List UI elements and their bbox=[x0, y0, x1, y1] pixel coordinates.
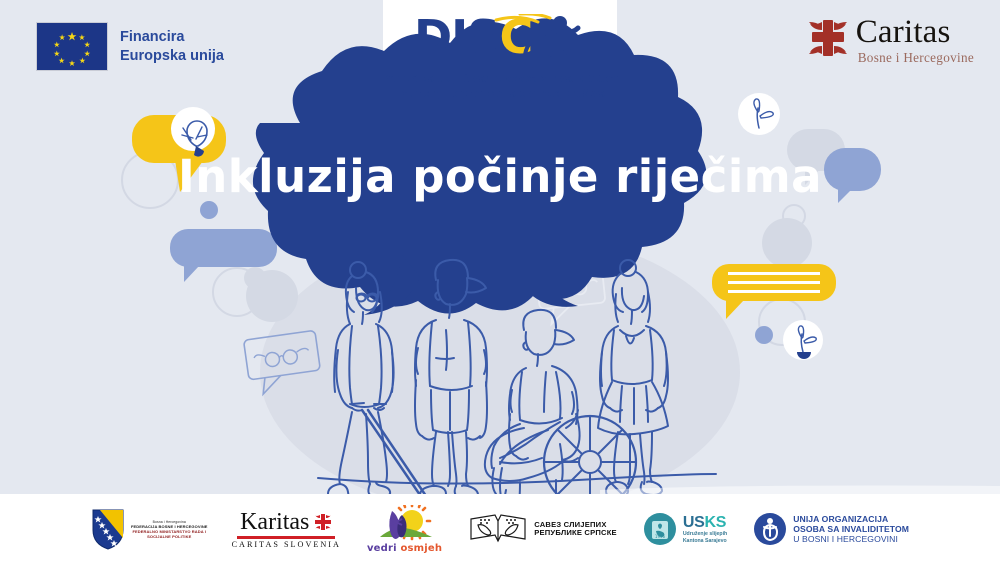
svg-text:1946: 1946 bbox=[655, 534, 666, 539]
savez-text: САВЕЗ СЛИЈЕПИХ РЕПУБЛИКЕ СРПСКЕ bbox=[534, 521, 617, 538]
caritas-name: Caritas bbox=[856, 16, 974, 49]
bih-line3: FEDERALNO MINISTARSTVO RADA I bbox=[131, 529, 208, 534]
unija-line3: U BOSNI I HERCEGOVINI bbox=[793, 534, 909, 544]
decor-circle-filled bbox=[244, 267, 266, 289]
partner-logos-footer: Bosna i Hercegovina FEDERACIJA BOSNE I H… bbox=[0, 495, 1000, 563]
usks-abbr: USKS bbox=[683, 514, 727, 532]
karitas-name: Karitas bbox=[240, 510, 309, 534]
savez-line2: РЕПУБЛИКЕ СРПСКЕ bbox=[534, 529, 617, 538]
usks-candle-hand-icon: 1946 bbox=[643, 512, 677, 546]
disc-logo: DISC bbox=[400, 14, 600, 68]
unija-person-wheelchair-icon bbox=[753, 512, 787, 546]
karitas-top-row: Karitas bbox=[240, 510, 332, 534]
disc-subtitle-line1: Projekt za uključivanje osoba s invalidi… bbox=[381, 72, 619, 87]
karitas-cross-icon bbox=[314, 513, 332, 531]
decor-circle-filled bbox=[762, 218, 812, 268]
sprout-icon bbox=[783, 320, 823, 360]
disc-subtitle: Projekt za uključivanje osoba s invalidi… bbox=[381, 72, 619, 102]
braille-book-icon bbox=[468, 511, 528, 547]
sun-and-people-icon bbox=[376, 505, 434, 545]
usks-logo: 1946 USKS Udruženje slijepih Kantona Sar… bbox=[643, 512, 727, 546]
karitas-red-rule bbox=[237, 536, 335, 539]
vedri-word1: vedri bbox=[367, 543, 397, 554]
unija-text: UNIJA ORGANIZACIJA OSOBA SA INVALIDITETO… bbox=[793, 514, 909, 545]
caritas-text: Caritas Bosne i Hercegovine bbox=[856, 16, 974, 64]
unija-line2: OSOBA SA INVALIDITETOM bbox=[793, 524, 909, 534]
bih-ministry-text: Bosna i Hercegovina FEDERACIJA BOSNE I H… bbox=[131, 520, 208, 539]
usks-abbr-ks: KS bbox=[704, 514, 726, 531]
poster-canvas: Financira Europska unija DISC bbox=[0, 0, 1000, 563]
bih-ministry-logo: Bosna i Hercegovina FEDERACIJA BOSNE I H… bbox=[91, 508, 208, 550]
karitas-subtitle: CARITAS SLOVENIA bbox=[232, 540, 341, 549]
usks-text: USKS Udruženje slijepih Kantona Sarajevo bbox=[683, 514, 727, 545]
bih-line4: SOCIJALNE POLITIKE bbox=[131, 534, 208, 539]
unija-organizacija-logo: UNIJA ORGANIZACIJA OSOBA SA INVALIDITETO… bbox=[753, 512, 909, 546]
caritas-subtitle: Bosne i Hercegovine bbox=[858, 51, 974, 64]
unija-line1: UNIJA ORGANIZACIJA bbox=[793, 514, 909, 524]
vedri-word2: osmjeh bbox=[400, 543, 442, 554]
bih-coat-of-arms-icon bbox=[91, 508, 125, 550]
vedri-osmjeh-logo: vedri osmjeh bbox=[367, 505, 442, 554]
caritas-logo-block: Caritas Bosne i Hercegovine bbox=[806, 16, 974, 64]
usks-abbr-us: US bbox=[683, 514, 705, 531]
savez-slijepih-rs-logo: САВЕЗ СЛИЈЕПИХ РЕПУБЛИКЕ СРПСКЕ bbox=[468, 511, 617, 547]
page-title: Inkluzija počinje riječima bbox=[0, 150, 1000, 203]
karitas-slovenia-logo: Karitas CARITAS SLOVENIA bbox=[232, 510, 341, 549]
caritas-flame-cross-icon bbox=[806, 16, 850, 60]
decor-dot bbox=[755, 326, 773, 344]
bih-line2: FEDERACIJA BOSNE I HERCEGOVINE bbox=[131, 524, 208, 529]
usks-sub2: Kantona Sarajevo bbox=[683, 538, 727, 545]
disc-subtitle-line2: i suradnju organizacija civilnog društva bbox=[381, 87, 619, 102]
vedri-osmjeh-wordmark: vedri osmjeh bbox=[367, 543, 442, 554]
disc-wheelchair-athlete-icon bbox=[400, 14, 600, 68]
decor-dot bbox=[200, 201, 218, 219]
